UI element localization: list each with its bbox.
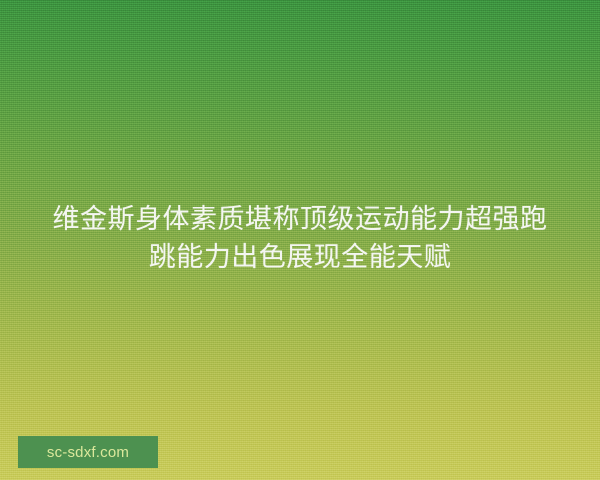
watermark-badge: sc-sdxf.com [18, 436, 158, 468]
poster-canvas: 维金斯身体素质堪称顶级运动能力超强跑 跳能力出色展现全能天赋 sc-sdxf.c… [0, 0, 600, 480]
headline-text-block: 维金斯身体素质堪称顶级运动能力超强跑 跳能力出色展现全能天赋 [0, 200, 600, 276]
watermark-site-label: sc-sdxf.com [47, 444, 129, 461]
headline-line-2: 跳能力出色展现全能天赋 [18, 238, 582, 276]
headline-line-1: 维金斯身体素质堪称顶级运动能力超强跑 [18, 200, 582, 238]
